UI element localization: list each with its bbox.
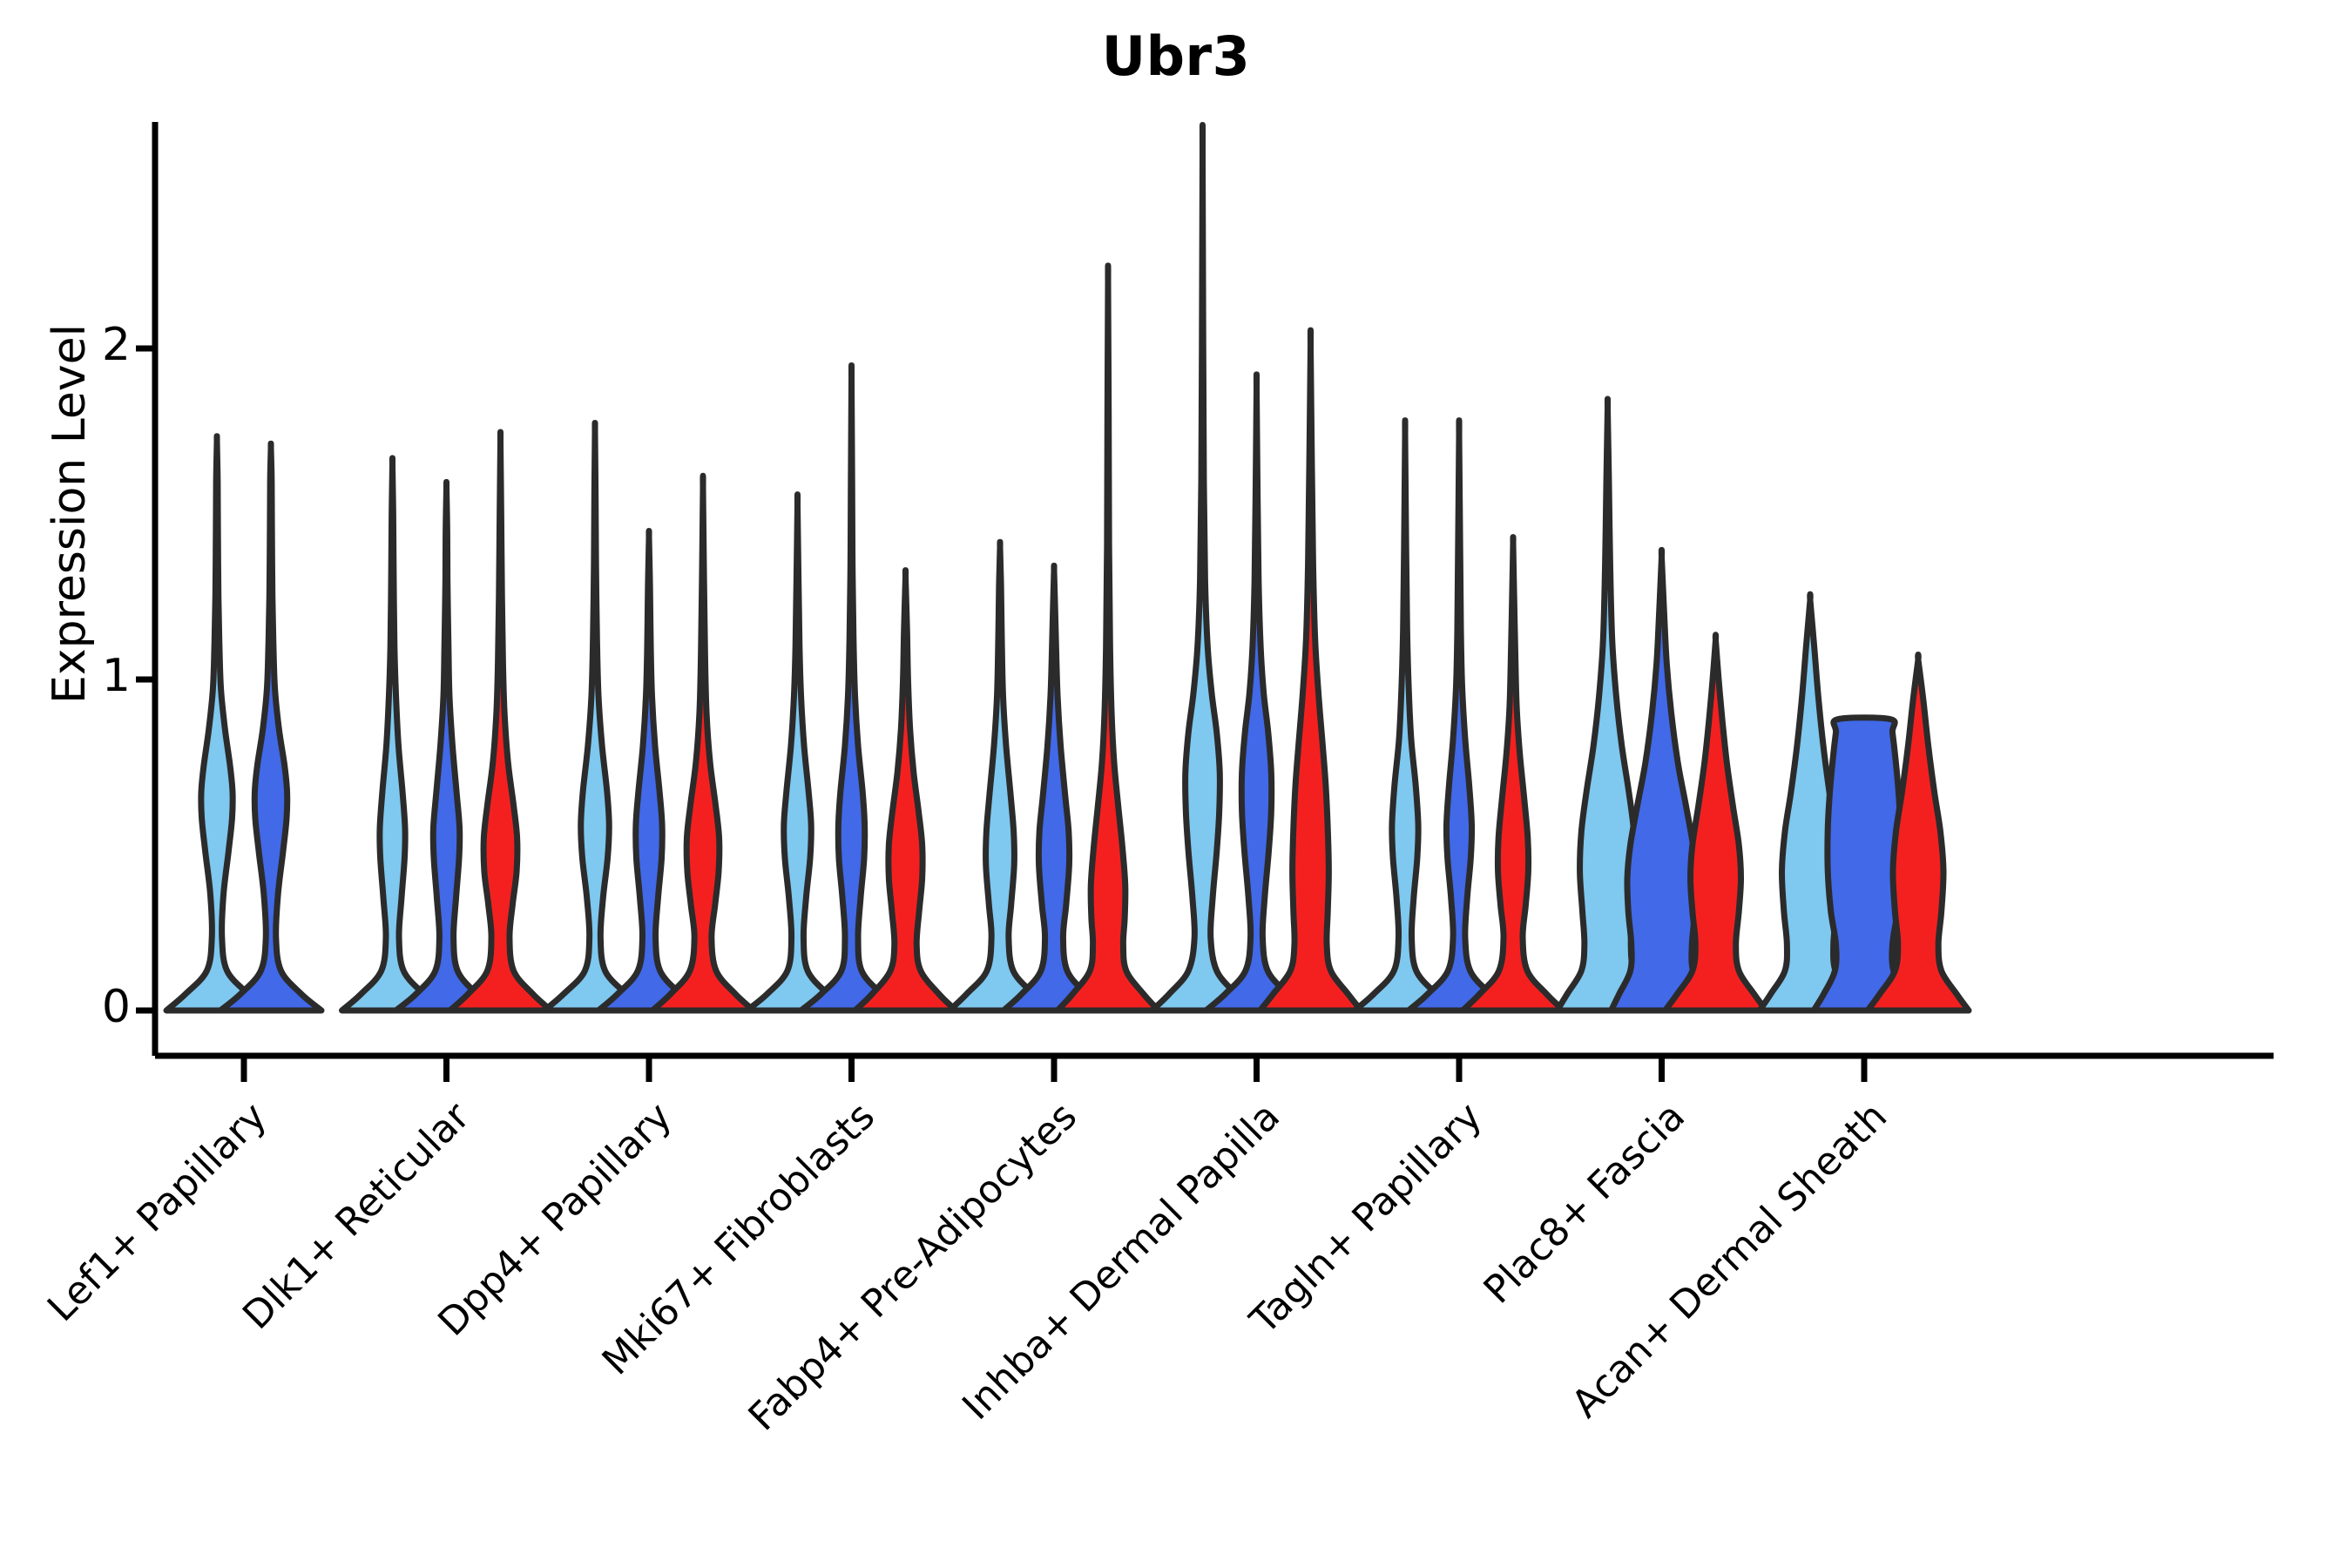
violin-shape <box>1152 125 1254 1011</box>
violin-shape <box>450 432 551 1010</box>
violin-shape <box>855 571 956 1010</box>
violin-shape <box>396 482 497 1010</box>
violin-shape <box>652 476 754 1010</box>
violin-shape <box>950 542 1051 1010</box>
violin-shape <box>1260 330 1362 1010</box>
y-tick-label: 1 <box>44 650 131 702</box>
violin-shape <box>747 495 848 1010</box>
plot-canvas <box>0 0 2352 1568</box>
violin-plot-figure: Ubr3 Expression Level 012 Lef1+ Papillar… <box>0 0 2352 1568</box>
violin-shape <box>220 443 321 1010</box>
violin-shape <box>1463 537 1564 1010</box>
violin-shape <box>1409 421 1510 1010</box>
violin-shape <box>166 436 267 1010</box>
violin-layer <box>166 125 1969 1011</box>
violin-shape <box>1058 266 1159 1010</box>
violin-shape <box>1004 565 1105 1010</box>
violin-shape <box>544 422 645 1010</box>
violin-shape <box>801 365 902 1010</box>
violin-shape <box>342 458 443 1010</box>
y-tick-label: 0 <box>44 981 131 1033</box>
y-tick-label: 2 <box>44 319 131 371</box>
violin-shape <box>598 531 700 1010</box>
violin-shape <box>1355 421 1456 1010</box>
